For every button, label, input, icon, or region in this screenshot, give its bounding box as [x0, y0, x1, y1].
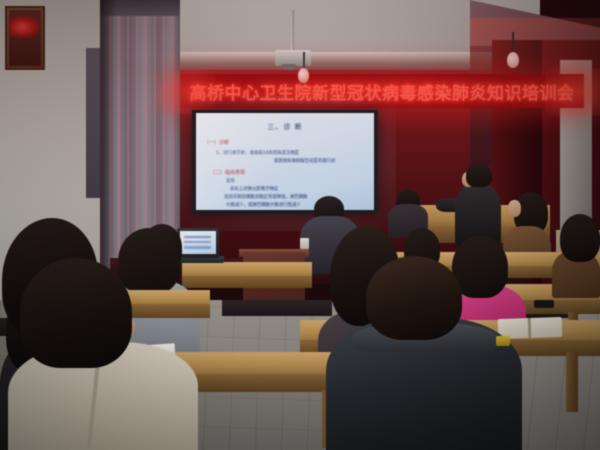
projector-mount-rod — [291, 10, 294, 52]
hanging-light-bulb-right — [507, 52, 519, 68]
meeting-room-photo: 高桥中心卫生院新型冠状病毒感染肺炎知识培训会 三、诊 断 （一）诊断 1、流行病… — [0, 0, 600, 450]
desk-center-leg — [566, 352, 578, 412]
back-right-attendee-face — [508, 200, 521, 217]
jacket-zipper-pull-icon — [496, 336, 510, 346]
projector-lens-icon — [282, 64, 296, 70]
slide-line-1: 1、流行病学史：发病前14天内有武汉地区 — [216, 150, 299, 156]
slide-line-6: 计数减少，或淋巴细胞计数进行性减少 — [226, 202, 301, 208]
foreground-man-hair — [366, 256, 462, 340]
gray-jacket-attendee-hair — [118, 228, 180, 294]
slide-line-2: 或其他有病例报告社区的旅行史 — [274, 158, 335, 164]
presenter-hair — [466, 163, 492, 187]
slide-heading-2: （二）临床表现 — [210, 169, 245, 176]
hanging-light-bulb — [298, 68, 309, 83]
lamp-cord-right — [512, 32, 514, 54]
slide-line-3: 发热 — [226, 178, 235, 184]
cream-jacket-attendee-hair — [20, 258, 132, 368]
bench-row1 — [222, 300, 332, 316]
slide-title: 三、诊 断 — [267, 122, 302, 132]
slide-line-4: 具有上述肺炎影像学特征 — [230, 186, 278, 192]
laptop-screen-content — [184, 236, 211, 249]
wall-plaque-red-text — [10, 16, 40, 38]
curtain-shadow — [100, 0, 118, 280]
projection-screen: 三、诊 断 （一）诊断 1、流行病学史：发病前14天内有武汉地区 或其他有病例报… — [196, 113, 374, 210]
slide-line-5: 发病早期白细胞总数正常或降低，淋巴细胞 — [224, 194, 307, 200]
phone-on-desk[interactable] — [534, 300, 554, 308]
far-right-attendee-hair — [560, 214, 600, 262]
banner-glow-right — [545, 68, 600, 116]
cup-on-desk[interactable] — [300, 238, 309, 249]
desk-mid-face — [182, 276, 312, 288]
notebook-spine — [528, 318, 532, 338]
slide-heading-1: （一）诊断 — [204, 139, 229, 146]
